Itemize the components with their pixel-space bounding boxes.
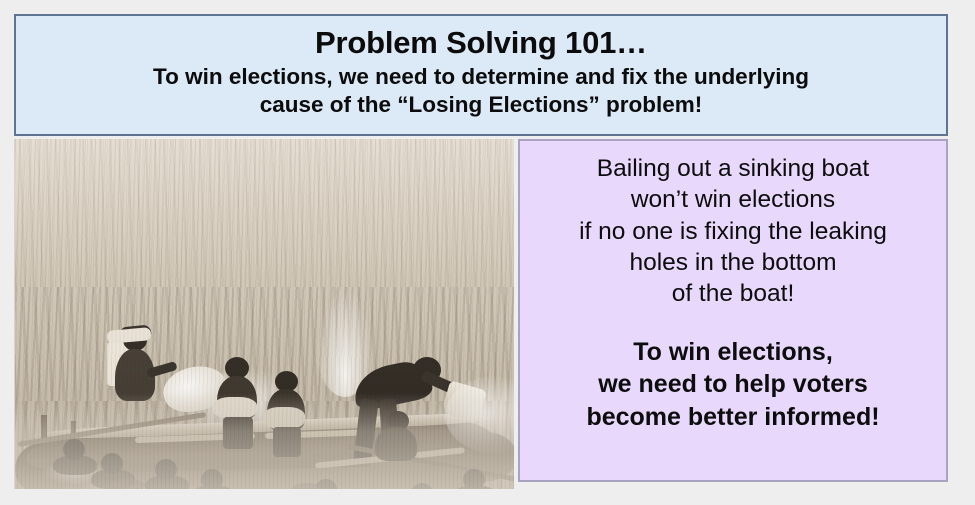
header-subtitle-line-2: cause of the “Losing Elections” problem! bbox=[260, 91, 703, 119]
panel-bold-line-2: we need to help voters bbox=[598, 368, 868, 401]
panel-line-3: if no one is fixing the leaking bbox=[579, 216, 887, 247]
panel-line-1: Bailing out a sinking boat bbox=[597, 153, 869, 184]
message-panel: Bailing out a sinking boat won’t win ele… bbox=[518, 139, 948, 482]
panel-line-2: won’t win elections bbox=[631, 184, 835, 215]
panel-line-4: holes in the bottom bbox=[629, 247, 836, 278]
page-title: Problem Solving 101… bbox=[315, 27, 647, 60]
slide-canvas: Problem Solving 101… To win elections, w… bbox=[0, 0, 975, 505]
photo-grain-overlay bbox=[15, 139, 514, 489]
header-subtitle-line-1: To win elections, we need to determine a… bbox=[153, 63, 809, 91]
panel-line-5: of the boat! bbox=[672, 278, 795, 309]
boat-photograph bbox=[14, 139, 514, 489]
panel-bold-line-3: become better informed! bbox=[586, 401, 879, 434]
panel-bold-line-1: To win elections, bbox=[633, 336, 833, 369]
photo-image bbox=[15, 139, 514, 489]
header-banner: Problem Solving 101… To win elections, w… bbox=[14, 14, 948, 136]
